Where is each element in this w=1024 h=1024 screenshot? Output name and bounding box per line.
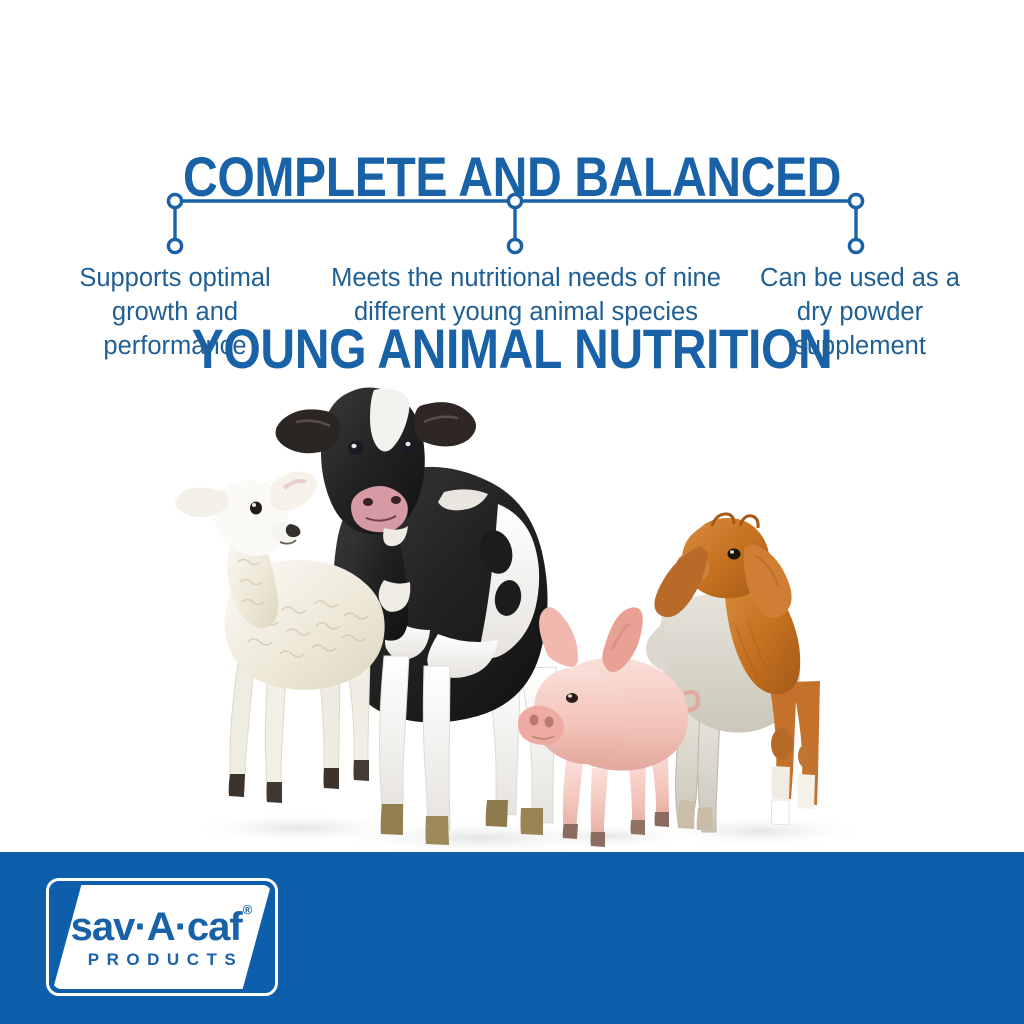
connector-svg	[0, 185, 1024, 265]
bracket-connector-graphic	[0, 185, 1024, 265]
connector-node-bottom-right	[849, 239, 862, 252]
piglet-hoof-4	[655, 812, 670, 827]
lamb-hoof-3	[324, 768, 340, 789]
lamb-hoof-4	[354, 760, 370, 781]
benefit-item-3: Can be used as a dry powder supplement	[746, 262, 974, 364]
logo-wordmark-text: sav·A·caf	[71, 905, 242, 949]
animal-goat-kid	[646, 514, 820, 832]
piglet-eye	[566, 693, 578, 703]
calf-eye-left	[348, 441, 364, 455]
calf-ear-left	[275, 409, 340, 453]
calf-hoof-rear-right	[521, 808, 544, 835]
calf-ear-right	[414, 402, 476, 446]
registered-trademark-icon: ®	[243, 902, 253, 917]
benefits-list: Supports optimal growth and performance …	[0, 262, 1024, 372]
logo-text-group: sav·A·caf® PRODUCTS	[53, 885, 271, 989]
sav-a-caf-products-logo[interactable]: sav·A·caf® PRODUCTS	[46, 878, 278, 996]
lamb-hoof-2	[267, 782, 283, 803]
connector-node-top-left	[168, 194, 181, 207]
connector-node-bottom-center	[508, 239, 521, 252]
piglet-hoof-3	[631, 820, 646, 835]
connector-node-top-center	[508, 194, 521, 207]
benefit-item-1: Supports optimal growth and performance	[62, 262, 288, 364]
calf-hoof-front-left	[381, 804, 403, 835]
animals-illustration	[0, 376, 1024, 854]
calf-hoof-rear-left	[486, 800, 508, 827]
logo-subtitle: PRODUCTS	[81, 951, 243, 968]
logo-wordmark: sav·A·caf®	[71, 907, 252, 947]
calf-hoof-front-right	[426, 816, 450, 845]
lamb-hoof-1	[229, 774, 245, 797]
piglet-ear-left	[539, 607, 578, 667]
piglet-hoof-2	[591, 832, 606, 847]
animal-group-photo	[0, 376, 1024, 854]
lamb-ear-right	[270, 472, 317, 511]
benefit-item-2: Meets the nutritional needs of nine diff…	[320, 262, 732, 330]
piglet-hoof-1	[563, 824, 578, 839]
connector-node-top-right	[849, 194, 862, 207]
footer-bar: sav·A·caf® PRODUCTS	[0, 852, 1024, 1024]
calf-eye-right	[402, 439, 418, 453]
infographic-page: COMPLETE AND BALANCED YOUNG ANIMAL NUTRI…	[0, 0, 1024, 1024]
lamb-nose	[286, 524, 301, 537]
goat-eye	[728, 549, 741, 560]
logo-inner: sav·A·caf® PRODUCTS	[53, 885, 271, 989]
connector-node-bottom-left	[168, 239, 181, 252]
lamb-eye	[250, 502, 262, 515]
